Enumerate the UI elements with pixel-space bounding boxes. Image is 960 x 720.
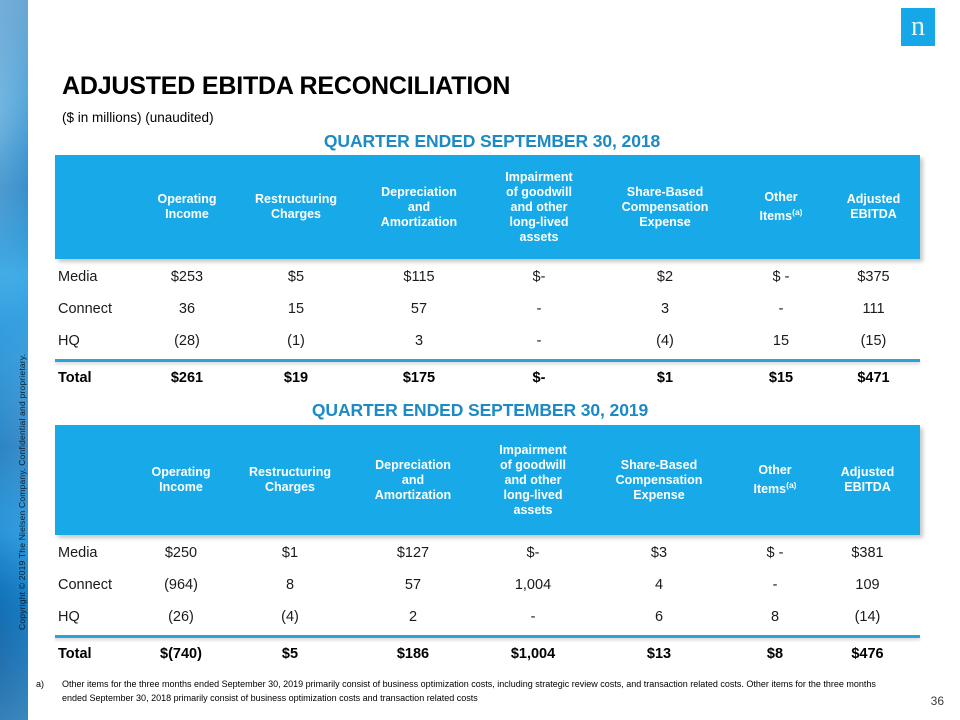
row-label: HQ — [55, 333, 137, 349]
cell-impairment: - — [483, 301, 595, 317]
cell-depreciation-amortization: 3 — [355, 333, 483, 349]
footnote-text: Other items for the three months ended S… — [62, 678, 886, 705]
cell-share-based-compensation: $2 — [595, 269, 735, 285]
cell-other-items: $ - — [735, 269, 827, 285]
header-cell-adjusted-ebitda: Adjusted EBITDA — [821, 465, 914, 495]
cell-share-based-compensation: (4) — [595, 333, 735, 349]
row-label: Media — [55, 545, 131, 561]
cell-restructuring-charges: 8 — [231, 577, 349, 593]
cell-share-based-compensation: $3 — [589, 545, 729, 561]
header-line: Compensation — [622, 200, 709, 214]
footnote-ref: (a) — [792, 207, 802, 217]
cell-restructuring-charges: $1 — [231, 545, 349, 561]
copyright-notice: Copyright © 2019 The Nielsen Company. Co… — [17, 300, 27, 630]
ebitda-table-2019: Operating Income Restructuring Charges D… — [55, 425, 920, 669]
cell-restructuring-charges: $5 — [237, 269, 355, 285]
cell-adjusted-ebitda: 109 — [821, 577, 914, 593]
header-cell-other-items: Other Items(a) — [735, 190, 827, 224]
header-line: Compensation — [616, 473, 703, 487]
total-operating-income: $(740) — [131, 646, 231, 662]
page-title: ADJUSTED EBITDA RECONCILIATION — [62, 72, 510, 101]
cell-operating-income: $250 — [131, 545, 231, 561]
header-cell-share-based-compensation: Share-Based Compensation Expense — [589, 458, 729, 503]
header-line: and — [408, 200, 430, 214]
header-line: Items — [759, 209, 792, 223]
cell-depreciation-amortization: 57 — [349, 577, 477, 593]
header-cell-restructuring-charges: Restructuring Charges — [237, 192, 355, 222]
cell-restructuring-charges: 15 — [237, 301, 355, 317]
header-line: EBITDA — [850, 207, 897, 221]
cell-impairment: 1,004 — [477, 577, 589, 593]
header-line: EBITDA — [844, 480, 891, 494]
cell-other-items: $ - — [729, 545, 821, 561]
header-line: long-lived — [503, 488, 562, 502]
header-line: Impairment — [505, 170, 572, 184]
cell-other-items: - — [735, 301, 827, 317]
cell-operating-income: (28) — [137, 333, 237, 349]
cell-adjusted-ebitda: $381 — [821, 545, 914, 561]
table-row: Connect (964) 8 57 1,004 4 - 109 — [55, 569, 920, 601]
footnote-ref: (a) — [786, 480, 796, 490]
header-cell-other-items: Other Items(a) — [729, 463, 821, 497]
total-share-based-compensation: $13 — [589, 646, 729, 662]
cell-share-based-compensation: 6 — [589, 609, 729, 625]
cell-depreciation-amortization: 2 — [349, 609, 477, 625]
header-line: Adjusted — [847, 192, 900, 206]
header-line: Depreciation — [375, 458, 451, 472]
table-body: Media $253 $5 $115 $- $2 $ - $375 Connec… — [55, 261, 920, 393]
row-label: Media — [55, 269, 137, 285]
table-total-row: Total $(740) $5 $186 $1,004 $13 $8 $476 — [55, 639, 920, 669]
total-share-based-compensation: $1 — [595, 370, 735, 386]
table-header-band: Operating Income Restructuring Charges D… — [55, 155, 920, 259]
table-row: Connect 36 15 57 - 3 - 111 — [55, 293, 920, 325]
table-row: HQ (26) (4) 2 - 6 8 (14) — [55, 601, 920, 633]
cell-adjusted-ebitda: 111 — [827, 301, 920, 317]
header-line: Income — [165, 207, 209, 221]
header-line: Impairment — [499, 443, 566, 457]
header-cell-impairment: Impairment of goodwill and other long-li… — [483, 170, 595, 245]
total-restructuring-charges: $5 — [231, 646, 349, 662]
cell-operating-income: $253 — [137, 269, 237, 285]
cell-adjusted-ebitda: (15) — [827, 333, 920, 349]
header-line: Charges — [271, 207, 321, 221]
header-line: and other — [505, 473, 562, 487]
total-restructuring-charges: $19 — [237, 370, 355, 386]
table-row: HQ (28) (1) 3 - (4) 15 (15) — [55, 325, 920, 357]
total-adjusted-ebitda: $471 — [827, 370, 920, 386]
cell-other-items: - — [729, 577, 821, 593]
cell-impairment: - — [477, 609, 589, 625]
row-label: HQ — [55, 609, 131, 625]
page-number: 36 — [931, 694, 944, 708]
table-total-row: Total $261 $19 $175 $- $1 $15 $471 — [55, 363, 920, 393]
table-row: Media $253 $5 $115 $- $2 $ - $375 — [55, 261, 920, 293]
total-label: Total — [55, 646, 131, 662]
total-depreciation-amortization: $175 — [355, 370, 483, 386]
nielsen-logo: n — [901, 8, 935, 46]
header-line: assets — [514, 503, 553, 517]
cell-restructuring-charges: (1) — [237, 333, 355, 349]
header-line: Depreciation — [381, 185, 457, 199]
header-line: Charges — [265, 480, 315, 494]
total-adjusted-ebitda: $476 — [821, 646, 914, 662]
header-line: Amortization — [375, 488, 451, 502]
cell-share-based-compensation: 3 — [595, 301, 735, 317]
header-line: Operating — [157, 192, 216, 206]
total-other-items: $8 — [729, 646, 821, 662]
total-other-items: $15 — [735, 370, 827, 386]
cell-impairment: $- — [483, 269, 595, 285]
footnote: a) Other items for the three months ende… — [36, 678, 896, 705]
header-cell-restructuring-charges: Restructuring Charges — [231, 465, 349, 495]
table-row: Media $250 $1 $127 $- $3 $ - $381 — [55, 537, 920, 569]
header-line: Share-Based — [621, 458, 697, 472]
table-header-row: Operating Income Restructuring Charges D… — [55, 155, 920, 259]
header-line: and — [402, 473, 424, 487]
header-cell-impairment: Impairment of goodwill and other long-li… — [477, 443, 589, 518]
cell-other-items: 15 — [735, 333, 827, 349]
total-impairment: $- — [483, 370, 595, 386]
header-line: Adjusted — [841, 465, 894, 479]
table-header-band: Operating Income Restructuring Charges D… — [55, 425, 920, 535]
header-line: Amortization — [381, 215, 457, 229]
header-line: Other — [758, 463, 791, 477]
cell-impairment: - — [483, 333, 595, 349]
header-line: long-lived — [509, 215, 568, 229]
page-subtitle: ($ in millions) (unaudited) — [62, 110, 214, 125]
header-line: Expense — [633, 488, 684, 502]
header-line: and other — [511, 200, 568, 214]
total-separator-rule — [55, 359, 920, 362]
header-cell-operating-income: Operating Income — [131, 465, 231, 495]
row-label: Connect — [55, 301, 137, 317]
row-label: Connect — [55, 577, 131, 593]
footnote-marker: a) — [36, 678, 62, 705]
header-line: Operating — [151, 465, 210, 479]
table-body: Media $250 $1 $127 $- $3 $ - $381 Connec… — [55, 537, 920, 669]
total-operating-income: $261 — [137, 370, 237, 386]
band-divider — [28, 0, 30, 720]
header-cell-adjusted-ebitda: Adjusted EBITDA — [827, 192, 920, 222]
cell-impairment: $- — [477, 545, 589, 561]
header-cell-operating-income: Operating Income — [137, 192, 237, 222]
header-line: of goodwill — [500, 458, 566, 472]
cell-share-based-compensation: 4 — [589, 577, 729, 593]
header-line: Restructuring — [249, 465, 331, 479]
header-cell-depreciation-amortization: Depreciation and Amortization — [349, 458, 477, 503]
total-separator-rule — [55, 635, 920, 638]
header-line: of goodwill — [506, 185, 572, 199]
cell-other-items: 8 — [729, 609, 821, 625]
total-impairment: $1,004 — [477, 646, 589, 662]
table-header-row: Operating Income Restructuring Charges D… — [55, 425, 920, 535]
section-title-2018: QUARTER ENDED SEPTEMBER 30, 2018 — [12, 131, 960, 152]
cell-adjusted-ebitda: $375 — [827, 269, 920, 285]
cell-depreciation-amortization: $127 — [349, 545, 477, 561]
total-label: Total — [55, 370, 137, 386]
total-depreciation-amortization: $186 — [349, 646, 477, 662]
cell-depreciation-amortization: 57 — [355, 301, 483, 317]
header-cell-share-based-compensation: Share-Based Compensation Expense — [595, 185, 735, 230]
header-line: assets — [520, 230, 559, 244]
cell-operating-income: (964) — [131, 577, 231, 593]
cell-adjusted-ebitda: (14) — [821, 609, 914, 625]
ebitda-table-2018: Operating Income Restructuring Charges D… — [55, 155, 920, 393]
header-line: Items — [753, 482, 786, 496]
header-line: Expense — [639, 215, 690, 229]
cell-operating-income: (26) — [131, 609, 231, 625]
cell-operating-income: 36 — [137, 301, 237, 317]
cell-restructuring-charges: (4) — [231, 609, 349, 625]
header-cell-depreciation-amortization: Depreciation and Amortization — [355, 185, 483, 230]
header-line: Share-Based — [627, 185, 703, 199]
header-line: Restructuring — [255, 192, 337, 206]
cell-depreciation-amortization: $115 — [355, 269, 483, 285]
section-title-2019: QUARTER ENDED SEPTEMBER 30, 2019 — [0, 400, 960, 421]
header-line: Other — [764, 190, 797, 204]
header-line: Income — [159, 480, 203, 494]
